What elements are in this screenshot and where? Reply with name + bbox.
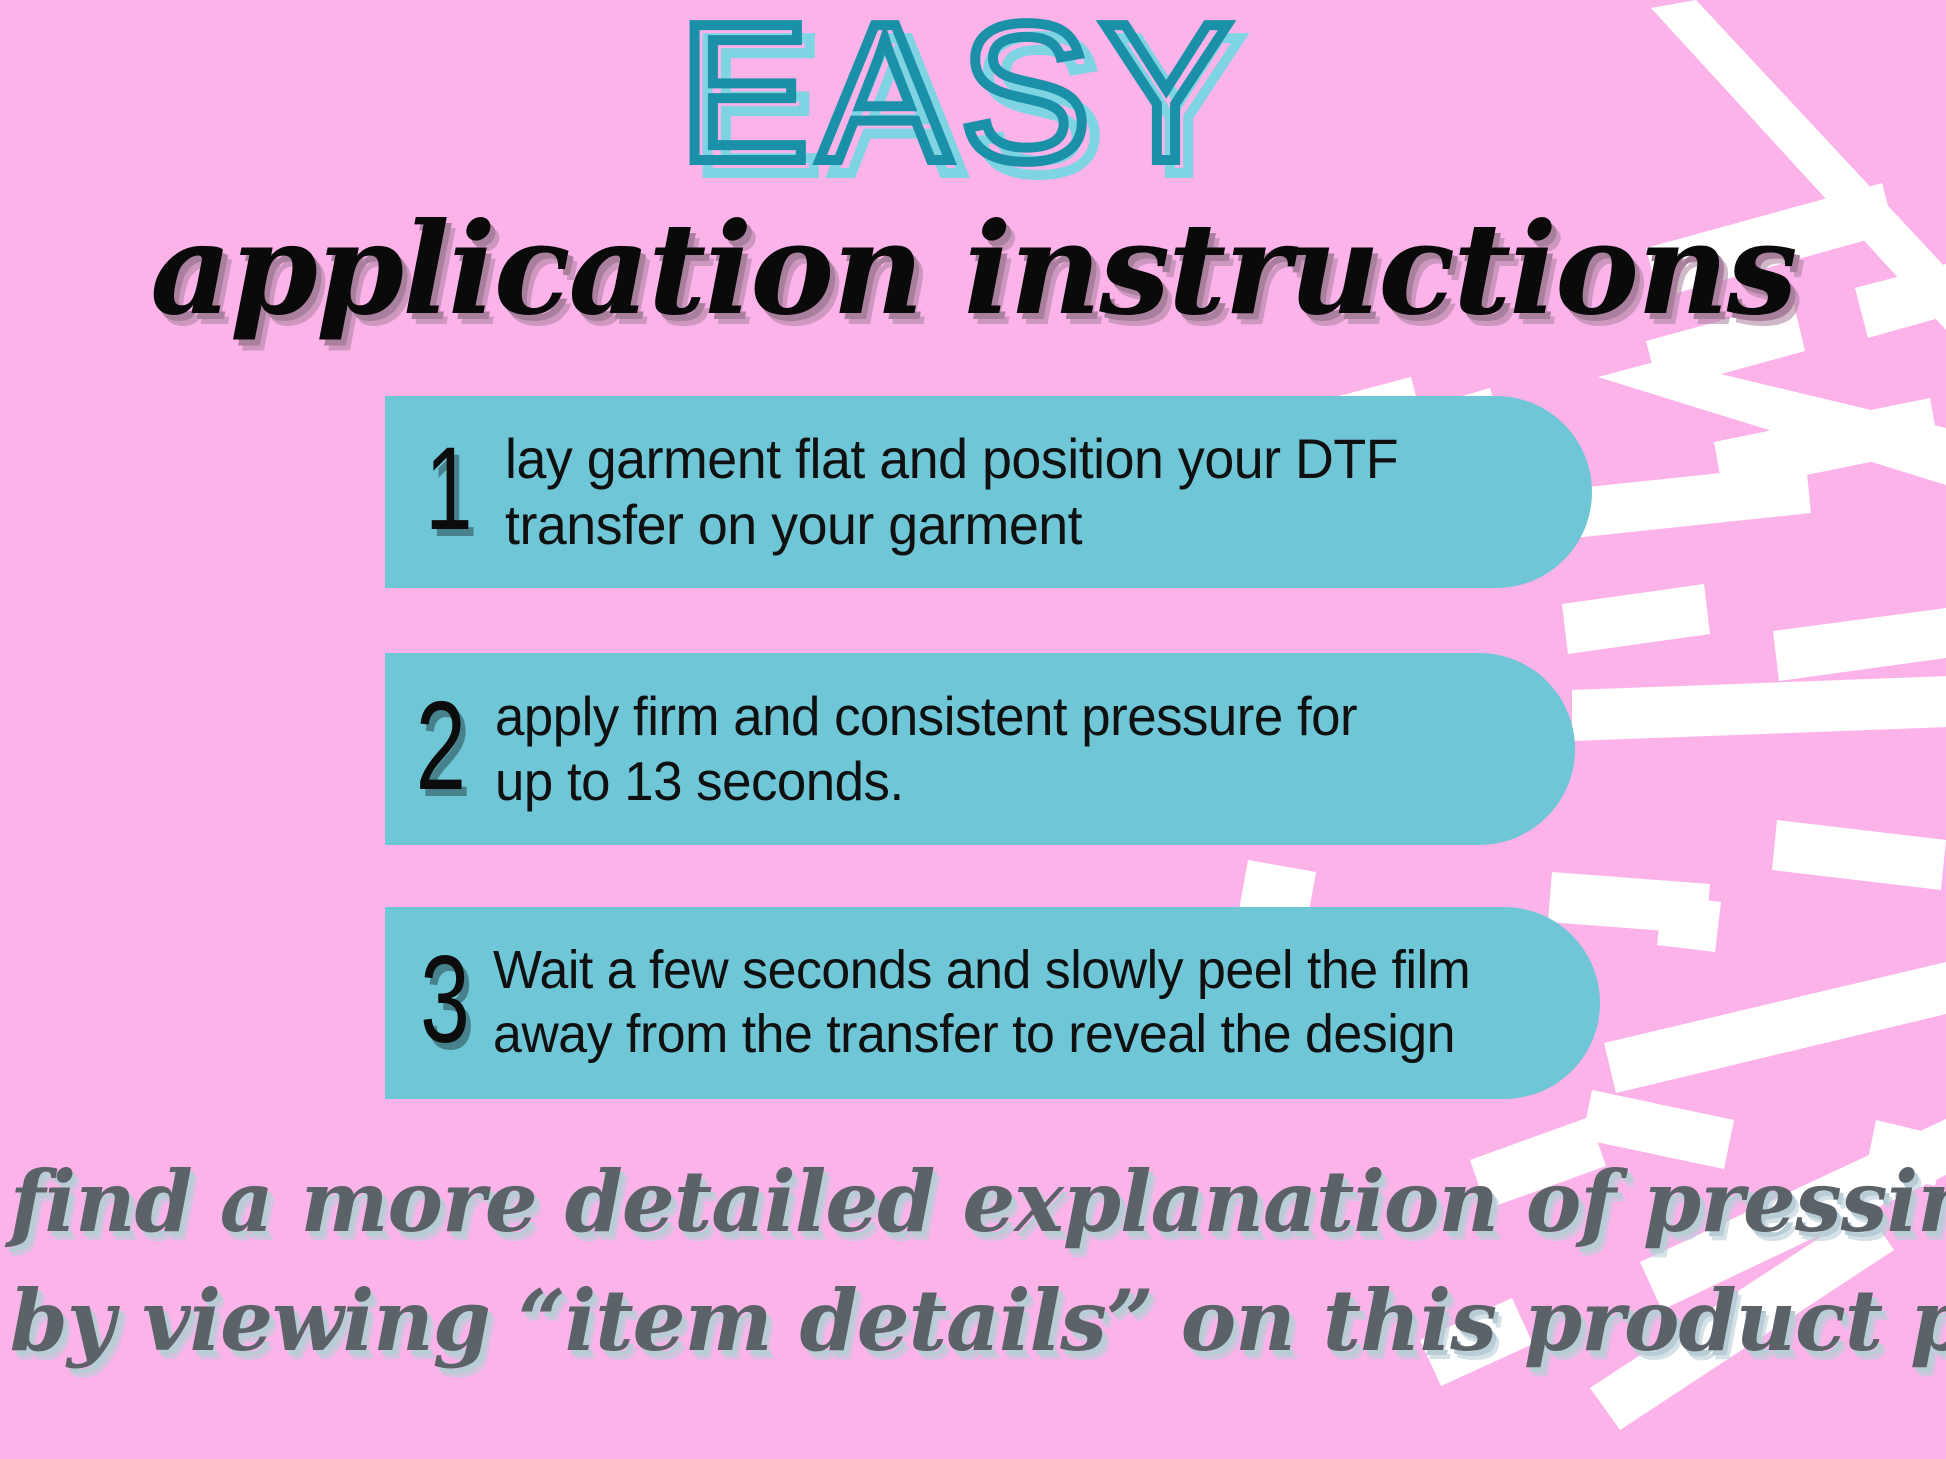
step-item-2: 2 apply firm and consistent pressure for… [385, 653, 1575, 845]
step-text-3-line-2: away from the transfer to reveal the des… [493, 1003, 1527, 1067]
step-item-1: 1 lay garment flat and position your DTF… [385, 396, 1592, 588]
footer-note-line-1: find a more detailed explanation of pres… [10, 1142, 1937, 1261]
headline-easy: EASY EASY [692, 8, 1255, 204]
step-text-2: apply firm and consistent pressure for u… [495, 684, 1503, 814]
step-number-3: 3 [419, 938, 471, 1068]
step-text-2-line-2: up to 13 seconds. [495, 749, 1503, 814]
headline-subtitle: application instructions [150, 200, 1796, 339]
footer-note: find a more detailed explanation of pres… [0, 1142, 1946, 1381]
footer-note-line-2: by viewing “item details” on this produc… [10, 1261, 1937, 1380]
step-text-1: lay garment flat and position your DTF t… [505, 426, 1520, 558]
steps-list: 1 lay garment flat and position your DTF… [385, 396, 1635, 1099]
step-text-3: Wait a few seconds and slowly peel the f… [493, 939, 1527, 1066]
step-number-1: 1 [423, 430, 475, 554]
headline-subtitle-container: application instructions [0, 200, 1946, 339]
application-instructions-poster: EASY EASY application instructions 1 lay… [0, 0, 1946, 1459]
step-number-2: 2 [415, 683, 467, 815]
step-text-2-line-1: apply firm and consistent pressure for [495, 684, 1503, 749]
headline-easy-front-layer: EASY [679, 0, 1242, 191]
headline-easy-container: EASY EASY [0, 8, 1946, 218]
step-item-3: 3 Wait a few seconds and slowly peel the… [385, 907, 1600, 1099]
step-text-3-line-1: Wait a few seconds and slowly peel the f… [493, 939, 1527, 1003]
step-text-1-line-1: lay garment flat and position your DTF [505, 426, 1520, 492]
step-text-1-line-2: transfer on your garment [505, 492, 1520, 558]
